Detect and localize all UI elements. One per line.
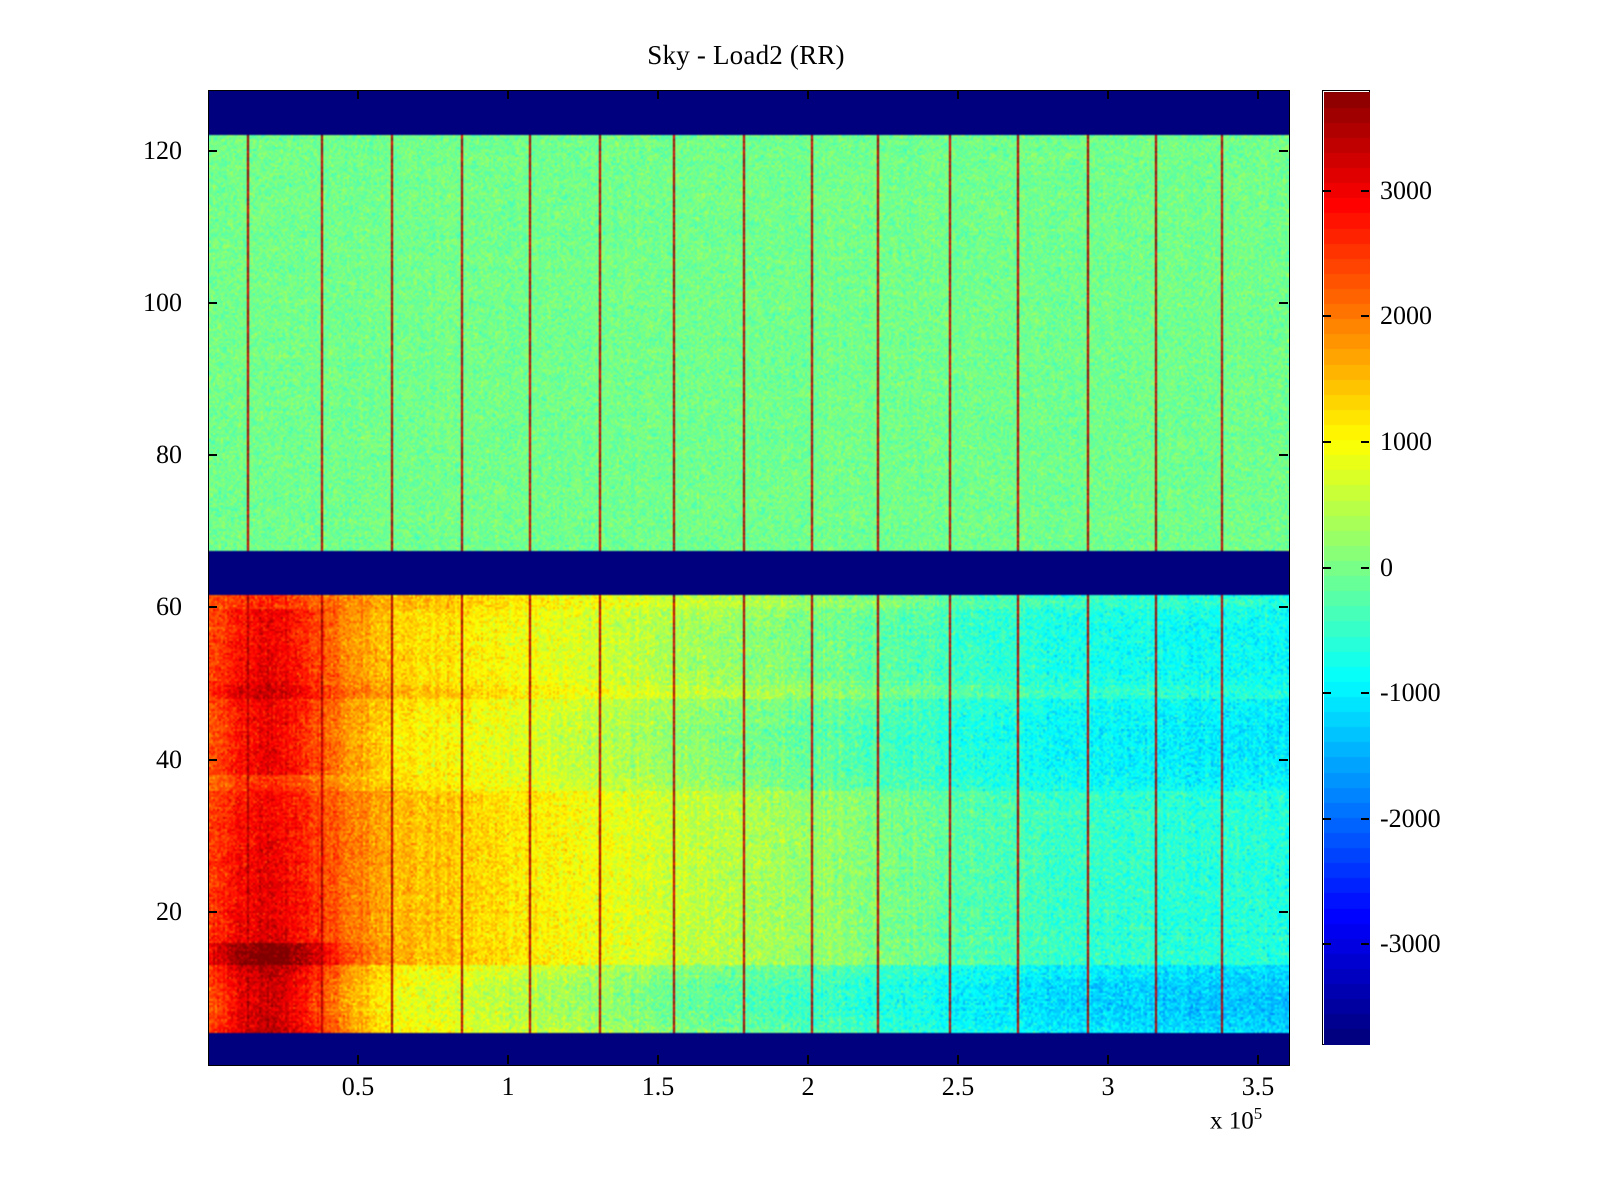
x-tick-mark-top [657, 90, 659, 99]
colorbar-region[interactable]: 3000200010000-1000-2000-3000 [1322, 90, 1370, 1045]
colorbar-tick-mark-right [1361, 315, 1369, 317]
x-tick-mark [1107, 1055, 1109, 1064]
x-tick-mark [807, 1055, 809, 1064]
x-axis-exponent: x 105 [1210, 1104, 1262, 1135]
y-tick-mark-right [1279, 454, 1288, 456]
colorbar-tick-mark-left [1323, 315, 1331, 317]
y-tick-mark-right [1279, 759, 1288, 761]
colorbar-tick-mark-right [1361, 567, 1369, 569]
colorbar-tick-label-0: 0 [1380, 553, 1393, 583]
x-tick-mark [957, 1055, 959, 1064]
y-tick-mark [208, 759, 217, 761]
x-tick-mark-top [1257, 90, 1259, 99]
colorbar-tick-mark-left [1323, 567, 1331, 569]
colorbar-tick-mark-left [1323, 441, 1331, 443]
x-tick-label-3: 3 [1102, 1072, 1115, 1102]
y-tick-mark [208, 302, 217, 304]
colorbar-tick-mark-right [1361, 190, 1369, 192]
x-tick-mark [1257, 1055, 1259, 1064]
y-tick-mark-right [1279, 911, 1288, 913]
colorbar-tick-mark-right [1361, 692, 1369, 694]
x-tick-label-2.5: 2.5 [942, 1072, 975, 1102]
colorbar-tick-label-2000: 2000 [1380, 301, 1432, 331]
x-exponent-power: 5 [1254, 1104, 1263, 1123]
colorbar-tick-mark-left [1323, 818, 1331, 820]
colorbar-tick-mark-left [1323, 190, 1331, 192]
y-tick-mark [208, 911, 217, 913]
x-tick-mark [357, 1055, 359, 1064]
x-tick-mark-top [1107, 90, 1109, 99]
x-tick-mark-top [507, 90, 509, 99]
colorbar-tick-mark-left [1323, 692, 1331, 694]
y-tick-mark [208, 606, 217, 608]
x-tick-label-3.5: 3.5 [1242, 1072, 1275, 1102]
x-tick-mark-top [807, 90, 809, 99]
colorbar-tick-label--1000: -1000 [1380, 678, 1441, 708]
x-exponent-mantissa: x 10 [1210, 1107, 1254, 1134]
colorbar-tick-mark-right [1361, 818, 1369, 820]
y-tick-mark [208, 150, 217, 152]
y-tick-mark [208, 454, 217, 456]
y-tick-mark-right [1279, 302, 1288, 304]
x-tick-mark-top [357, 90, 359, 99]
colorbar-tick-label--2000: -2000 [1380, 804, 1441, 834]
colorbar-tick-mark-left [1323, 943, 1331, 945]
x-tick-mark [507, 1055, 509, 1064]
colorbar-tick-label-3000: 3000 [1380, 176, 1432, 206]
x-tick-mark [657, 1055, 659, 1064]
x-tick-label-2: 2 [802, 1072, 815, 1102]
colorbar-tick-label--3000: -3000 [1380, 929, 1441, 959]
y-tick-mark-right [1279, 606, 1288, 608]
figure-canvas: Sky - Load2 (RR) 20406080100120 0.511.52… [0, 0, 1600, 1200]
x-tick-label-1.5: 1.5 [642, 1072, 675, 1102]
x-tick-label-1: 1 [502, 1072, 515, 1102]
y-tick-mark-right [1279, 150, 1288, 152]
colorbar-tick-label-1000: 1000 [1380, 427, 1432, 457]
colorbar-tick-mark-right [1361, 943, 1369, 945]
colorbar-gradient [1324, 92, 1370, 1045]
x-tick-label-0.5: 0.5 [342, 1072, 375, 1102]
x-tick-mark-top [957, 90, 959, 99]
colorbar-tick-mark-right [1361, 441, 1369, 443]
